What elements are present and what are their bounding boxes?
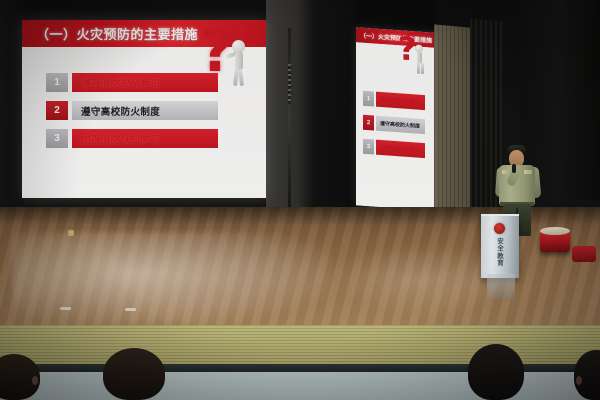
slide-row-number: 1 bbox=[46, 73, 68, 92]
slide-row-text: 增强消防安全意识 bbox=[72, 73, 218, 92]
podium-base bbox=[487, 274, 515, 300]
slide-row: 3 加强消防认知学习 bbox=[46, 129, 218, 148]
secondary-bullet-list: 1 增强消防安全意识 2 遵守高校防火制度 3 加强消防认知学习 bbox=[363, 91, 425, 167]
secondary-question-mark-icon: ? bbox=[398, 32, 417, 65]
slide-bullet-list: 1 增强消防安全意识 2 遵守高校防火制度 3 加强消防认知学习 bbox=[46, 73, 218, 157]
secondary-mascot-leg-right-icon bbox=[421, 63, 424, 74]
mascot-leg-right-icon bbox=[238, 69, 244, 86]
secondary-row-text: 遵守高校防火制度 bbox=[376, 116, 425, 134]
photo-scene: （一）火灾预防的主要措施 ? 1 增强消防安全意识 2 遵守高校防火制度 bbox=[0, 0, 600, 400]
audience-head bbox=[103, 348, 165, 400]
slide-row-text: 遵守高校防火制度 bbox=[72, 101, 218, 120]
podium: 安全教育 bbox=[481, 214, 519, 278]
stage-drum-prop bbox=[572, 246, 596, 262]
microphone-icon bbox=[512, 164, 516, 173]
slide-body: ? 1 增强消防安全意识 2 遵守高校防火制度 3 加强消防认知 bbox=[22, 47, 266, 198]
speaker-shoulder-insignia bbox=[524, 170, 532, 174]
audience-ear bbox=[576, 376, 582, 385]
podium-emblem-icon bbox=[494, 223, 505, 234]
stage-pole bbox=[288, 28, 291, 208]
upper-dark-curtain bbox=[356, 0, 436, 30]
slide-title: （一）火灾预防的主要措施 bbox=[36, 24, 198, 43]
slide-row-text: 加强消防认知学习 bbox=[72, 129, 218, 148]
floor-tape-mark bbox=[125, 308, 136, 311]
drum-head-surface bbox=[540, 227, 570, 235]
question-mark-icon: ? bbox=[200, 22, 234, 80]
slide-row-number: 2 bbox=[46, 101, 68, 120]
slide-row: 2 遵守高校防火制度 bbox=[46, 101, 218, 120]
secondary-slide-body: ? 1 增强消防安全意识 2 遵守高校防火制度 3 加强消防认知学习 bbox=[356, 42, 434, 210]
floor-marker-object bbox=[68, 230, 74, 236]
secondary-row-number: 2 bbox=[363, 115, 374, 131]
pole-cable-clips bbox=[288, 64, 291, 104]
secondary-row-number: 1 bbox=[363, 91, 374, 107]
secondary-mascot-cluster: ? bbox=[396, 32, 432, 91]
slide-row-number: 3 bbox=[46, 129, 68, 148]
secondary-display-panel: （一）火灾预防的主要措施 ? 1 增强消防安全意识 2 遵守高校防火制度 bbox=[356, 27, 434, 210]
floor-tape-mark bbox=[60, 307, 71, 310]
main-projection-screen: （一）火灾预防的主要措施 ? 1 增强消防安全意识 2 遵守高校防火制度 bbox=[22, 20, 266, 198]
secondary-slide-row: 2 遵守高校防火制度 bbox=[363, 115, 425, 134]
secondary-slide-row: 1 增强消防安全意识 bbox=[363, 91, 425, 110]
secondary-row-number: 3 bbox=[363, 139, 374, 155]
slide-row: 1 增强消防安全意识 bbox=[46, 73, 218, 92]
secondary-mascot-leg-left-icon bbox=[417, 63, 420, 74]
secondary-slide-row: 3 加强消防认知学习 bbox=[363, 139, 425, 158]
left-wall-panel bbox=[0, 0, 24, 206]
display-cube-side-panel bbox=[434, 24, 470, 213]
audience-ear bbox=[32, 376, 38, 385]
secondary-row-text: 增强消防安全意识 bbox=[376, 92, 425, 110]
podium-sign-text: 安全教育 bbox=[495, 238, 506, 268]
stage-drum-prop bbox=[540, 231, 570, 252]
floor-light-reflection bbox=[12, 232, 332, 324]
secondary-row-text: 加强消防认知学习 bbox=[376, 140, 425, 158]
center-wall-panel bbox=[266, 0, 358, 208]
audience-head bbox=[468, 344, 524, 400]
